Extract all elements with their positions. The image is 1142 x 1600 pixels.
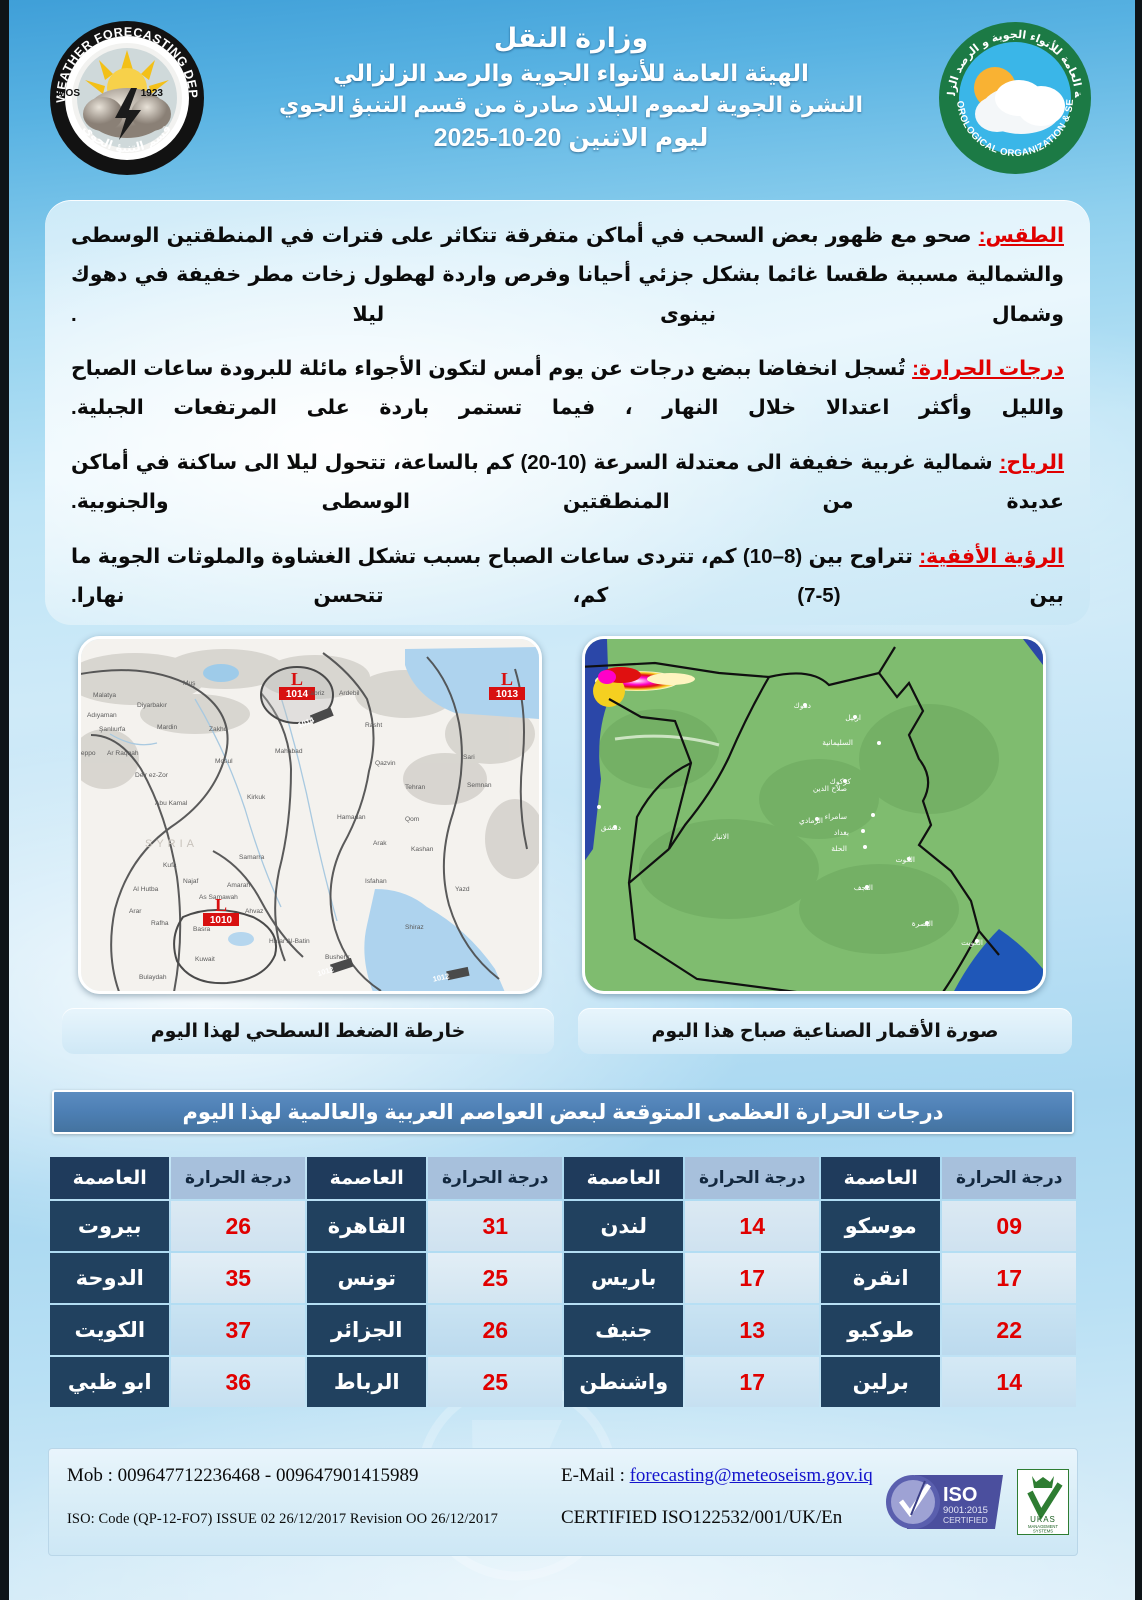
footer-iso-code: ISO: Code (QP-12-FO7) ISSUE 02 26/12/201… [67,1511,498,1528]
cell-temp: 36 [171,1357,305,1407]
svg-text:Zakho: Zakho [209,726,228,733]
table-row: 17 انقرة 17 باريس 25 تونس 35 الدوحة [50,1253,1076,1303]
svg-text:Mardin: Mardin [157,724,177,731]
footer-email-line: E-Mail : forecasting@meteoseism.gov.iq [561,1465,873,1487]
svg-text:1013: 1013 [496,689,519,700]
svg-text:Şanlıurfa: Şanlıurfa [99,726,126,733]
svg-text:Yazd: Yazd [455,886,470,893]
header-temperature-2: درجة الحرارة [428,1157,562,1199]
svg-text:Semnan: Semnan [467,782,492,789]
svg-text:Najaf: Najaf [183,878,199,885]
svg-text:Amarah: Amarah [227,882,250,889]
cell-city: واشنطن [564,1357,683,1407]
svg-text:Mosul: Mosul [215,758,233,765]
svg-text:Arak: Arak [373,840,387,847]
svg-text:البصرة: البصرة [912,919,933,928]
svg-text:Ahvaz: Ahvaz [245,908,263,915]
header-capital-4: العاصمة [821,1157,940,1199]
forecast-label-visibility: الرؤية الأفقية: [919,545,1064,568]
svg-text:Samarra: Samarra [239,854,265,861]
cell-city: باريس [564,1253,683,1303]
surface-pressure-map[interactable]: 1014 1012 1012 L 1014 L 1013 [78,636,542,994]
ukas-badge-line3: SYSTEMS [1033,1529,1053,1534]
forecast-text-card: الطقس: صحو مع ظهور بعض السحب في أماكن مت… [45,200,1090,625]
svg-text:L: L [501,669,513,689]
svg-text:اربيل: اربيل [845,713,861,722]
cell-temp: 13 [685,1305,819,1355]
forecast-section-visibility: الرؤية الأفقية: تتراوح بين (8–10) كم، تت… [71,537,1064,616]
ukas-badge-line1: UKAS [1030,1515,1056,1524]
svg-text:As Samawah: As Samawah [199,894,238,901]
forecast-body-wind: شمالية غربية خفيفة الى معتدلة السرعة (10… [71,451,1064,513]
svg-text:Rafha: Rafha [151,920,169,927]
svg-text:Bushehr: Bushehr [325,954,350,961]
header-capital-1: العاصمة [50,1157,169,1199]
svg-text:الرمادي: الرمادي [799,816,823,825]
svg-text:Adıyaman: Adıyaman [87,712,117,719]
cell-temp: 26 [171,1201,305,1251]
svg-text:Al Hutba: Al Hutba [133,886,159,893]
svg-text:Ardebil: Ardebil [339,690,360,697]
svg-text:Aleppo: Aleppo [78,750,96,757]
svg-text:Diyarbakır: Diyarbakır [137,702,168,709]
cell-city: موسكو [821,1201,940,1251]
svg-text:Kirkuk: Kirkuk [247,794,266,801]
imos-logo: الهيئة العامة للأنواء الجوية و الرصد الز… [935,18,1095,178]
svg-text:النجف: النجف [854,883,873,892]
header-capital-2: العاصمة [307,1157,426,1199]
cell-temp: 22 [942,1305,1076,1355]
pressure-map-caption: خارطة الضغط السطحي لهذا اليوم [62,1008,554,1054]
table-row: 22 طوكيو 13 جنيف 26 الجزائر 37 الكويت [50,1305,1076,1355]
svg-text:بغداد: بغداد [834,828,849,837]
svg-text:Deir ez-Zor: Deir ez-Zor [135,772,169,779]
svg-text:Mahabad: Mahabad [275,748,303,755]
svg-text:Malatya: Malatya [93,692,116,699]
svg-text:Shiraz: Shiraz [405,924,424,931]
table-row: 14 برلين 17 واشنطن 25 الرباط 36 ابو ظبي [50,1357,1076,1407]
cell-city: الرباط [307,1357,426,1407]
cell-temp: 09 [942,1201,1076,1251]
forecast-body-weather: صحو مع ظهور بعض السحب في أماكن متفرقة تت… [71,224,1064,326]
cell-city: برلين [821,1357,940,1407]
page-footer: Mob : 009647712236468 - 009647901415989 … [48,1448,1078,1556]
forecast-label-temperature: درجات الحرارة: [912,357,1064,380]
cell-city: طوكيو [821,1305,940,1355]
svg-text:Kashan: Kashan [411,846,434,853]
table-row: 09 موسكو 14 لندن 31 القاهرة 26 بيروت [50,1201,1076,1251]
footer-email-label: E-Mail : [561,1465,625,1486]
satellite-map-caption: صورة الأقمار الصناعية صباح هذا اليوم [578,1008,1072,1054]
svg-text:دمشق: دمشق [601,823,621,832]
svg-text:الكوت: الكوت [896,855,915,864]
svg-text:الحلة: الحلة [831,844,847,853]
svg-text:Ar Raqqah: Ar Raqqah [107,750,139,757]
svg-text:Hamadan: Hamadan [337,814,366,821]
svg-text:SYRIA: SYRIA [145,838,198,850]
cell-city: انقرة [821,1253,940,1303]
cell-city: بيروت [50,1201,169,1251]
cell-temp: 26 [428,1305,562,1355]
svg-text:دهوك: دهوك [794,701,811,710]
cell-temp: 37 [171,1305,305,1355]
iso-badge-status: CERTIFIED [943,1515,988,1525]
cell-temp: 14 [942,1357,1076,1407]
svg-text:Kufa: Kufa [163,862,177,869]
svg-text:Bulaydah: Bulaydah [139,974,167,981]
cell-temp: 25 [428,1357,562,1407]
svg-text:Arar: Arar [129,908,142,915]
bulletin-page: IQ NEWS [0,0,1142,1600]
cell-city: تونس [307,1253,426,1303]
svg-text:Isfahan: Isfahan [365,878,387,885]
cell-city: لندن [564,1201,683,1251]
svg-text:الكويت: الكويت [961,938,983,947]
svg-text:صلاح الدين: صلاح الدين [813,784,847,793]
satellite-image-map[interactable]: دهوك اربيل السليمانية كركوك سامراء بغداد… [582,636,1046,994]
world-capitals-temperature-table: درجة الحرارة العاصمة درجة الحرارة العاصم… [48,1155,1078,1409]
svg-text:Tehran: Tehran [405,784,425,791]
iso-certification-badge: ISO 9001:2015 CERTIFIED [885,1471,1007,1533]
footer-mobile: Mob : 009647712236468 - 009647901415989 [67,1465,419,1487]
forecast-label-weather: الطقس: [979,224,1064,247]
svg-text:الانبار: الانبار [711,832,729,841]
svg-text:سامراء: سامراء [825,812,847,821]
forecast-section-temperature: درجات الحرارة: تُسجل انخفاضا ببضع درجات … [71,349,1064,428]
cell-temp: 31 [428,1201,562,1251]
svg-text:Abu Kamal: Abu Kamal [155,800,188,807]
header-temperature-3: درجة الحرارة [685,1157,819,1199]
forecast-section-wind: الرياح: شمالية غربية خفيفة الى معتدلة ال… [71,443,1064,522]
ukas-accreditation-badge: UKAS MANAGEMENT SYSTEMS [1017,1469,1069,1535]
cell-city: الدوحة [50,1253,169,1303]
table-header-row: درجة الحرارة العاصمة درجة الحرارة العاصم… [50,1157,1076,1199]
forecast-section-weather: الطقس: صحو مع ظهور بعض السحب في أماكن مت… [71,216,1064,334]
cell-temp: 17 [685,1253,819,1303]
svg-text:Tabriz: Tabriz [307,690,325,697]
footer-email-link[interactable]: forecasting@meteoseism.gov.iq [630,1465,873,1486]
forecast-label-wind: الرياح: [1000,451,1064,474]
cell-temp: 14 [685,1201,819,1251]
svg-text:Sari: Sari [463,754,475,761]
svg-text:السليمانية: السليمانية [822,738,853,747]
cell-temp: 25 [428,1253,562,1303]
page-header: WEATHER FORECASTING DEPT. قسم التنبؤ الج… [0,0,1142,200]
temperature-table-title: درجات الحرارة العظمى المتوقعة لبعض العوا… [52,1090,1074,1134]
svg-text:Muş: Muş [183,680,196,687]
svg-text:Rasht: Rasht [365,722,382,729]
svg-text:Qom: Qom [405,816,420,823]
header-temperature-4: درجة الحرارة [942,1157,1076,1199]
svg-text:Qazvin: Qazvin [375,760,396,767]
svg-text:Basra: Basra [193,926,211,933]
svg-text:L: L [291,669,303,689]
maps-row: 1014 1012 1012 L 1014 L 1013 [0,636,1142,1056]
iso-badge-title: ISO [943,1484,977,1506]
svg-text:1014: 1014 [286,689,309,700]
cell-temp: 17 [685,1357,819,1407]
svg-text:Hafar Al-Batin: Hafar Al-Batin [269,938,310,945]
cell-city: الكويت [50,1305,169,1355]
forecast-body-visibility: تتراوح بين (8–10) كم، تتردى ساعات الصباح… [71,545,1064,607]
cell-city: القاهرة [307,1201,426,1251]
header-temperature-1: درجة الحرارة [171,1157,305,1199]
cell-city: الجزائر [307,1305,426,1355]
header-capital-3: العاصمة [564,1157,683,1199]
cell-city: ابو ظبي [50,1357,169,1407]
cell-temp: 35 [171,1253,305,1303]
cell-city: جنيف [564,1305,683,1355]
footer-certified: CERTIFIED ISO122532/001/UK/En [561,1507,842,1529]
svg-text:1010: 1010 [210,915,233,926]
svg-text:Kuwait: Kuwait [195,956,215,963]
cell-temp: 17 [942,1253,1076,1303]
